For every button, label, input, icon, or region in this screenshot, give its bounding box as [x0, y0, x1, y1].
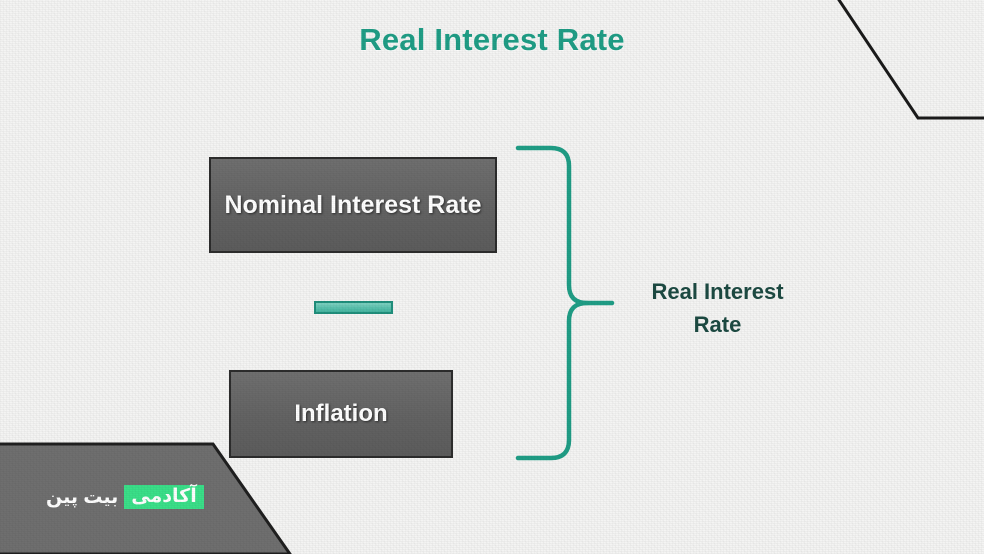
term-box-label: Nominal Interest Rate	[224, 191, 481, 220]
term-box-label: Inflation	[294, 400, 387, 428]
corner-decoration-icon	[810, 0, 984, 140]
logo: آکادمی بیت پین	[46, 485, 204, 509]
logo-academy-badge: آکادمی	[124, 485, 203, 509]
result-label-line-1: Real Interest	[620, 275, 815, 308]
term-box-nominal-interest-rate: Nominal Interest Rate	[209, 157, 497, 253]
slide-canvas: Real Interest Rate Nominal Interest Rate…	[0, 0, 984, 554]
result-label: Real Interest Rate	[620, 275, 815, 341]
curly-brace-icon	[505, 135, 630, 475]
minus-operator-icon	[314, 301, 393, 314]
result-label-line-2: Rate	[620, 308, 815, 341]
logo-brand-name: بیت پین	[46, 488, 118, 507]
page-title: Real Interest Rate	[0, 22, 984, 58]
